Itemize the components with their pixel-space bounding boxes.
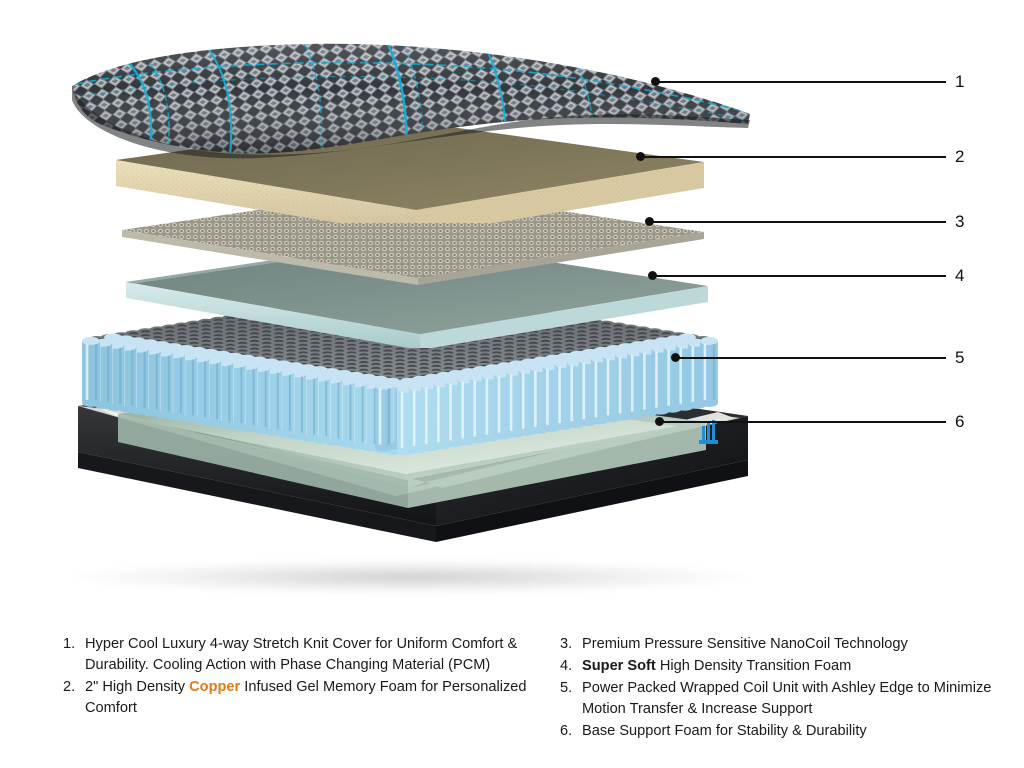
layer-knit-cover (58, 28, 758, 163)
mattress-diagram: 1 2 3 4 5 6 (0, 0, 1024, 620)
knit-cover-svg (58, 28, 758, 163)
text-run: High Density Transition Foam (656, 658, 851, 674)
legend-item-text: Premium Pressure Sensitive NanoCoil Tech… (582, 634, 1000, 655)
text-run: Hyper Cool Luxury 4-way Stretch Knit Cov… (85, 636, 517, 673)
legend-item-text: Base Support Foam for Stability & Durabi… (582, 721, 1000, 742)
text-run: Power Packed Wrapped Coil Unit with Ashl… (582, 680, 991, 717)
legend-item: 3.Premium Pressure Sensitive NanoCoil Te… (560, 634, 1000, 655)
legend-item-text: Power Packed Wrapped Coil Unit with Ashl… (582, 678, 1000, 720)
text-run: Premium Pressure Sensitive NanoCoil Tech… (582, 636, 908, 652)
callout-line-5 (677, 357, 946, 359)
legend-item-text: Hyper Cool Luxury 4-way Stretch Knit Cov… (85, 634, 543, 676)
callout-number-1: 1 (955, 73, 964, 90)
wrapped-coil (82, 337, 100, 407)
text-run: Base Support Foam for Stability & Durabi… (582, 723, 867, 739)
callout-number-2: 2 (955, 148, 964, 165)
legend-item: 2.2" High Density Copper Infused Gel Mem… (63, 677, 543, 719)
callout-line-6 (661, 421, 946, 423)
legend-item-index: 5. (560, 678, 582, 720)
callout-line-2 (642, 156, 946, 158)
drop-shadow (70, 560, 750, 594)
callout-number-5: 5 (955, 349, 964, 366)
legend-item-index: 6. (560, 721, 582, 742)
callout-line-1 (657, 81, 946, 83)
callout-line-3 (651, 221, 946, 223)
legend-item-text: 2" High Density Copper Infused Gel Memor… (85, 677, 543, 719)
callout-number-3: 3 (955, 213, 964, 230)
legend-item: 1.Hyper Cool Luxury 4-way Stretch Knit C… (63, 634, 543, 676)
legend-item-text: Super Soft High Density Transition Foam (582, 656, 1000, 677)
legend-column-left: 1.Hyper Cool Luxury 4-way Stretch Knit C… (63, 634, 543, 720)
legend-item: 5.Power Packed Wrapped Coil Unit with As… (560, 678, 1000, 720)
callout-number-4: 4 (955, 267, 964, 284)
legend-item: 4.Super Soft High Density Transition Foa… (560, 656, 1000, 677)
copper-highlight: Copper (189, 679, 240, 695)
legend-item-index: 3. (560, 634, 582, 655)
callout-line-4 (654, 275, 946, 277)
callout-number-6: 6 (955, 413, 964, 430)
legend-item: 6.Base Support Foam for Stability & Dura… (560, 721, 1000, 742)
wrapped-coil (375, 382, 393, 452)
knit-weave (58, 28, 758, 163)
text-run: 2" High Density (85, 679, 189, 695)
legend-item-index: 4. (560, 656, 582, 677)
legend-item-index: 1. (63, 634, 85, 676)
legend-column-right: 3.Premium Pressure Sensitive NanoCoil Te… (560, 634, 1000, 743)
legend-item-index: 2. (63, 677, 85, 719)
bold-highlight: Super Soft (582, 658, 656, 674)
legend: 1.Hyper Cool Luxury 4-way Stretch Knit C… (0, 620, 1024, 768)
